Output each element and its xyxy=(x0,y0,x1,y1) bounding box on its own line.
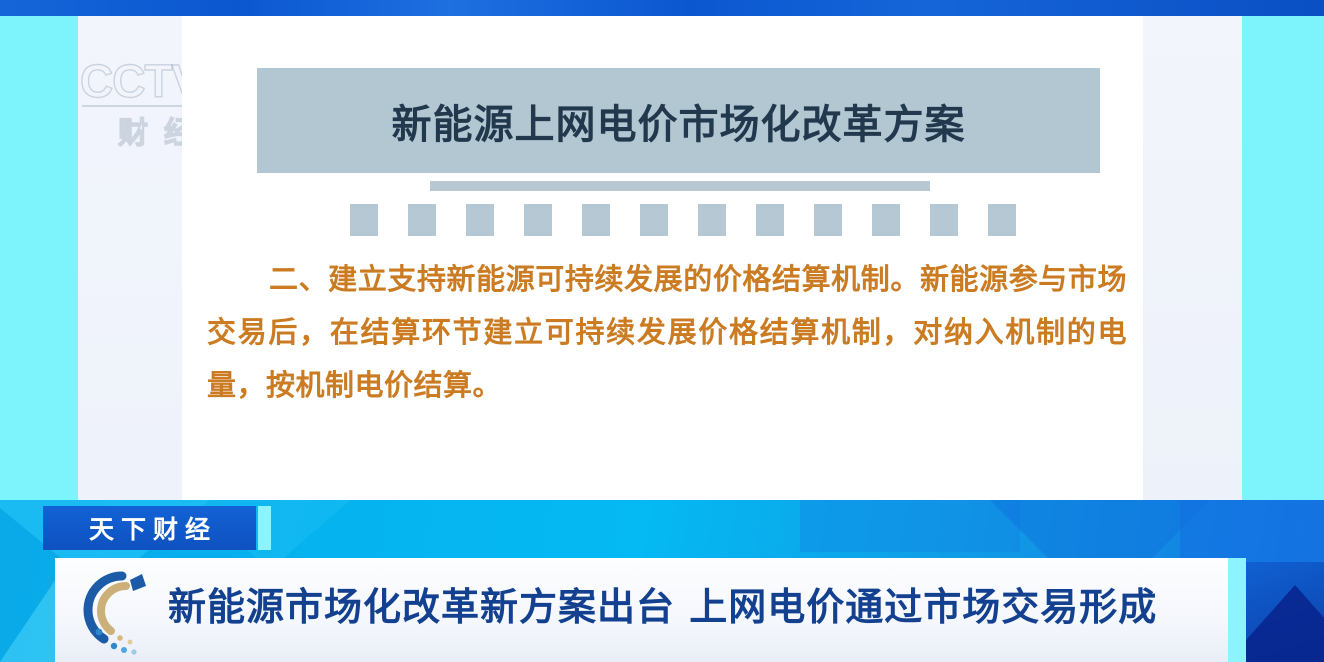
decor-square xyxy=(814,204,842,236)
decor-square xyxy=(872,204,900,236)
slide-body-text: 二、建立支持新能源可持续发展的价格结算机制。新能源参与市场交易后，在结算环节建立… xyxy=(207,253,1127,412)
slide-title-band: 新能源上网电价市场化改革方案 xyxy=(257,68,1100,173)
left-cyan-band xyxy=(0,16,78,500)
slide-title: 新能源上网电价市场化改革方案 xyxy=(392,92,966,150)
headline-label: 新能源市场化改革新方案出台 上网电价通过市场交易形成 xyxy=(168,576,1157,631)
left-inner-panel xyxy=(78,16,182,500)
right-cyan-band xyxy=(1242,16,1324,500)
broadcast-screen: CCTV 2 财经 新能源上网电价市场化改革方案 二、建立支持新能源可持续发展的… xyxy=(0,0,1324,662)
decor-square xyxy=(930,204,958,236)
program-arc-logo-icon xyxy=(70,566,166,658)
decor-square-row xyxy=(350,204,1040,236)
program-name-label: 天下财经 xyxy=(82,510,217,546)
headline-accent-bar xyxy=(1228,558,1246,662)
decor-square xyxy=(350,204,378,236)
top-blue-strip xyxy=(0,0,1324,16)
right-inner-panel xyxy=(1143,16,1242,500)
program-tab-accent xyxy=(258,506,271,550)
card-top-margin xyxy=(182,16,1143,38)
decor-square xyxy=(698,204,726,236)
divider-bar xyxy=(430,181,930,191)
decor-square xyxy=(466,204,494,236)
slide-card: 新能源上网电价市场化改革方案 二、建立支持新能源可持续发展的价格结算机制。新能源… xyxy=(182,38,1143,500)
decor-square xyxy=(756,204,784,236)
decor-square xyxy=(408,204,436,236)
decor-square xyxy=(640,204,668,236)
program-name-tab: 天下财经 xyxy=(43,506,256,550)
decor-square xyxy=(524,204,552,236)
decor-square xyxy=(988,204,1016,236)
decor-square xyxy=(582,204,610,236)
